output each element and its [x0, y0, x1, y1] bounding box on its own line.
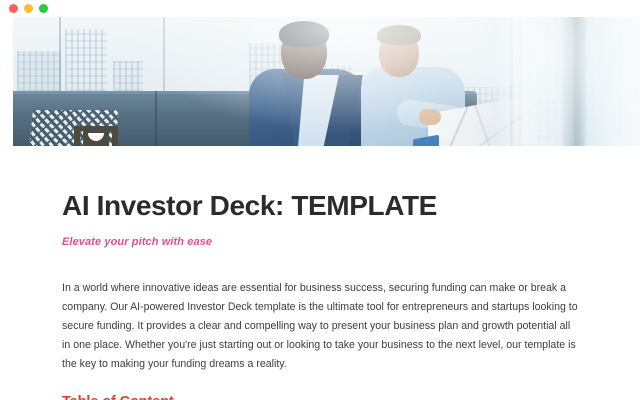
- page-subtitle: Elevate your pitch with ease: [62, 236, 578, 248]
- glass-panel: [474, 17, 510, 146]
- app-window: AI Investor Deck: TEMPLATE Elevate your …: [0, 0, 640, 400]
- maximize-button[interactable]: [39, 4, 48, 13]
- close-button[interactable]: [9, 4, 18, 13]
- window-titlebar: [0, 0, 640, 17]
- hero-banner-image: [13, 17, 640, 146]
- couch-seam: [155, 94, 157, 146]
- table-of-content-heading: Table of Content: [62, 394, 578, 400]
- intro-paragraph: In a world where innovative ideas are es…: [62, 279, 578, 374]
- sheer-curtain: [510, 17, 640, 146]
- person-hair: [377, 25, 421, 45]
- person-hair: [279, 21, 329, 47]
- person-hand: [419, 109, 441, 125]
- camera-icon: [72, 120, 120, 146]
- page-title: AI Investor Deck: TEMPLATE: [62, 191, 578, 222]
- minimize-button[interactable]: [24, 4, 33, 13]
- document-content: AI Investor Deck: TEMPLATE Elevate your …: [0, 146, 640, 400]
